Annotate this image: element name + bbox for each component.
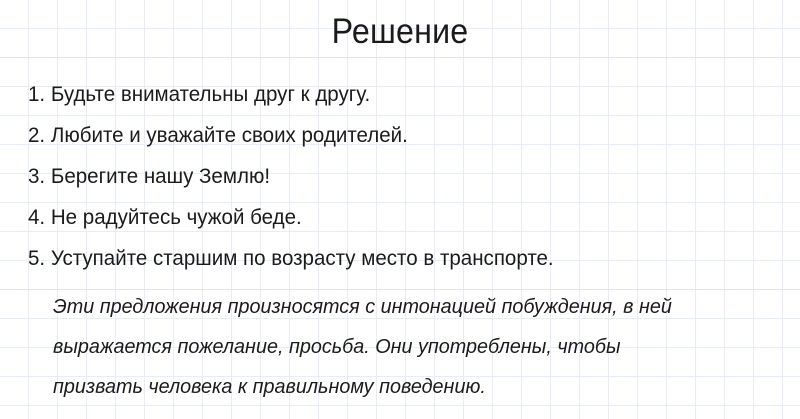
- list-item-text: Уступайте старшим по возрасту место в тр…: [51, 246, 554, 270]
- page-content: Решение 1. Будьте внимательны друг к дру…: [0, 0, 800, 419]
- answer-list: 1. Будьте внимательны друг к другу. 2. Л…: [28, 74, 778, 279]
- list-item: 1. Будьте внимательны друг к другу.: [28, 74, 744, 115]
- list-item-number: 3.: [28, 164, 45, 188]
- list-item-text: Любите и уважайте своих родителей.: [51, 123, 408, 147]
- list-item-number: 4.: [28, 205, 45, 229]
- list-item: 2. Любите и уважайте своих родителей.: [28, 115, 744, 156]
- list-item-text: Берегите нашу Землю!: [51, 164, 270, 188]
- list-item-number: 2.: [28, 123, 45, 147]
- list-item: 5. Уступайте старшим по возрасту место в…: [28, 238, 744, 279]
- explanation-line: выражается пожелание, просьба. Они употр…: [53, 327, 748, 367]
- explanation-line: призвать человека к правильному поведени…: [53, 367, 748, 407]
- explanation-paragraph: Эти предложения произносятся с интонацие…: [53, 287, 773, 407]
- page-title: Решение: [32, 11, 768, 53]
- explanation-line: Эти предложения произносятся с интонацие…: [53, 287, 748, 327]
- list-item-text: Не радуйтесь чужой беде.: [51, 205, 302, 229]
- list-item-text: Будьте внимательны друг к другу.: [51, 82, 370, 106]
- list-item: 4. Не радуйтесь чужой беде.: [28, 197, 744, 238]
- list-item-number: 5.: [28, 246, 45, 270]
- list-item: 3. Берегите нашу Землю!: [28, 156, 744, 197]
- list-item-number: 1.: [28, 82, 45, 106]
- worksheet-page: Решение 1. Будьте внимательны друг к дру…: [0, 0, 800, 419]
